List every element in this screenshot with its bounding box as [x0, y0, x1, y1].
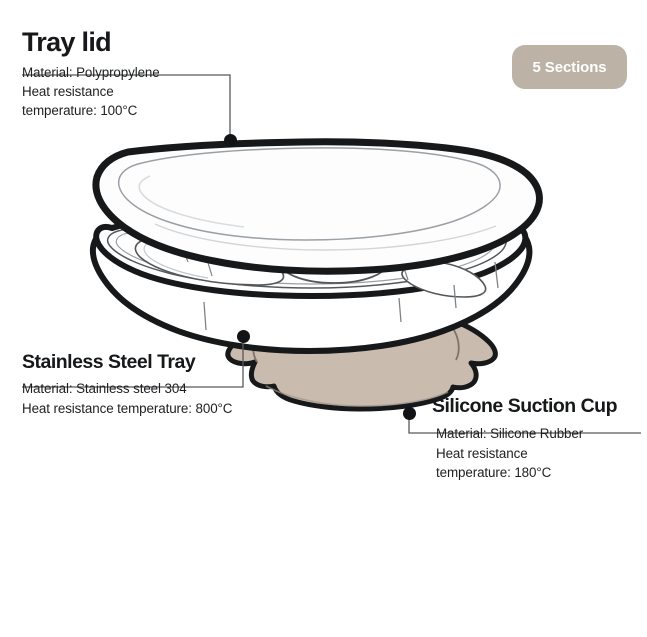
callout-stainless-steel-tray: Stainless Steel Tray Material: Stainless…: [22, 352, 290, 418]
sections-badge-label: 5 Sections: [532, 59, 606, 76]
callout-stainless-steel-tray-title: Stainless Steel Tray: [22, 352, 290, 372]
callout-tray-lid-body: Material: Polypropylene Heat resistance …: [22, 63, 234, 120]
tray-lid-shape: [96, 142, 539, 271]
product-diagram-page: 5 Sections Tray lid Material: Polypropyl…: [0, 0, 647, 637]
callout-silicone-suction-cup-body: Material: Silicone Rubber Heat resistanc…: [409, 424, 641, 481]
sections-badge: 5 Sections: [512, 45, 627, 89]
stainless-steel-tray-shape: [93, 208, 530, 351]
callout-silicone-suction-cup-title: Silicone Suction Cup: [409, 396, 641, 416]
callout-silicone-suction-cup: Silicone Suction Cup Material: Silicone …: [409, 396, 641, 482]
leader-dot-stainless-steel-tray: [237, 330, 250, 343]
callout-tray-lid-title: Tray lid: [22, 28, 234, 56]
leader-dot-tray-lid: [224, 134, 237, 147]
callout-stainless-steel-tray-body: Material: Stainless steel 304 Heat resis…: [22, 379, 290, 417]
callout-tray-lid: Tray lid Material: Polypropylene Heat re…: [22, 28, 234, 120]
